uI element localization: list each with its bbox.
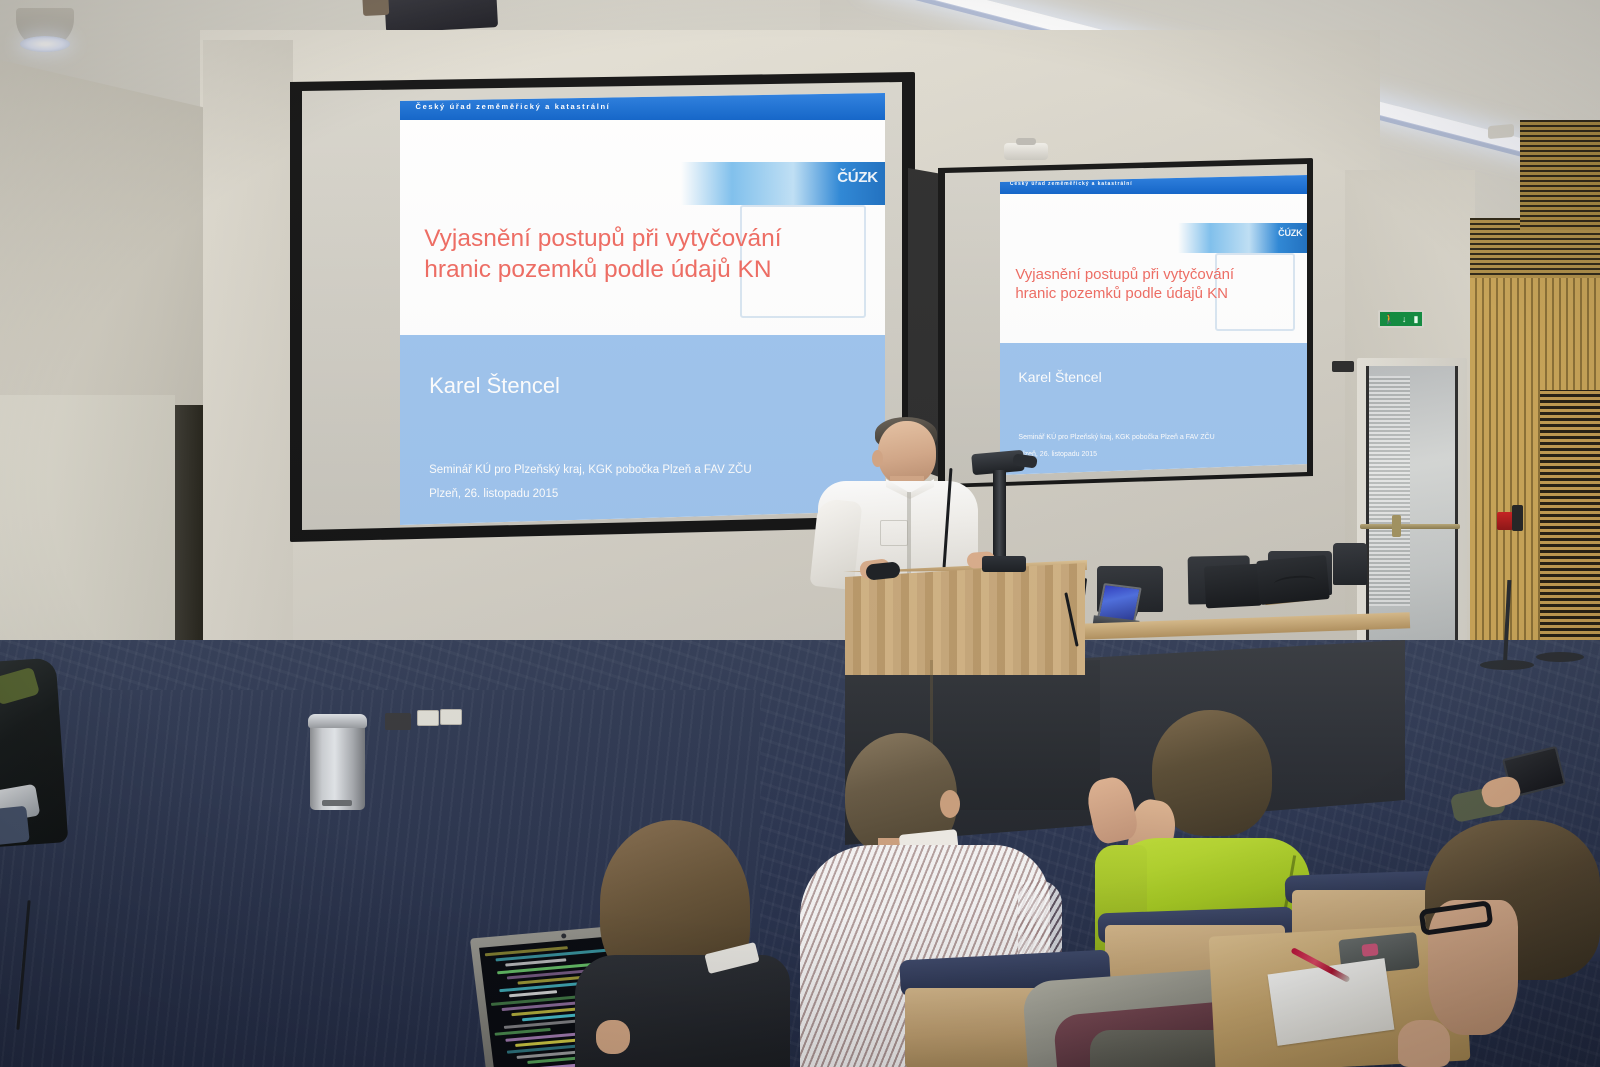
- cuzk-logo-secondary: ČÚZK: [1278, 228, 1302, 238]
- emergency-exit-sign: 🚶 ↓ ▮: [1378, 310, 1424, 328]
- slide-author-name: Karel Štencel: [429, 373, 560, 399]
- wall-outlet-2[interactable]: [440, 709, 462, 725]
- wood-slat-grille: [1540, 390, 1600, 640]
- wall-sensor-icon: [1332, 361, 1354, 372]
- slide-subtitle-line-1: Seminář KÚ pro Plzeňský kraj, KGK pobočk…: [429, 464, 752, 476]
- audience-striped-shirt-ear: [940, 790, 960, 818]
- office-chair-base-2: [1536, 652, 1584, 662]
- slide-header-text-secondary: Český úřad zeměměřický a katastrální: [1000, 181, 1133, 187]
- wall-outlet-1[interactable]: [417, 710, 439, 726]
- control-desk-monitor-1: [1204, 564, 1262, 609]
- slide-title-line-1-secondary: Vyjasnění postupů při vytyčování: [1015, 265, 1291, 284]
- wall-outlet-dark[interactable]: [385, 713, 411, 730]
- slide-canvas: Český úřad zeměměřický a katastrální ČÚZ…: [400, 93, 885, 525]
- slide-author-name-secondary: Karel Štencel: [1018, 369, 1101, 385]
- cuzk-logo: ČÚZK: [837, 169, 877, 186]
- slide-subtitle-line-2: Plzeň, 26. listopadu 2015: [429, 488, 558, 500]
- presenter-shirt-pocket: [880, 520, 908, 546]
- pencil-case-tab: [1361, 943, 1378, 957]
- slide-canvas-secondary: Český úřad zeměměřický a katastrální ČÚZ…: [1000, 175, 1307, 475]
- arrow-down-icon: ↓: [1402, 315, 1407, 324]
- control-desk-chair-4: [1333, 543, 1367, 585]
- stainless-step-bin: [310, 722, 365, 810]
- bin-pedal[interactable]: [322, 800, 352, 806]
- slide-title-line-2-secondary: hranic pozemků podle údajů KN: [1015, 284, 1291, 303]
- fire-alarm-call-point[interactable]: [1497, 512, 1513, 530]
- slide-title-line-1: Vyjasnění postupů při vytyčování: [424, 223, 861, 254]
- slide-lower-panel-secondary: Karel Štencel Seminář KÚ pro Plzeňský kr…: [1000, 343, 1307, 475]
- laptop-webcam-icon: [560, 933, 566, 938]
- office-chair-base: [1480, 660, 1534, 670]
- coat-blue: [0, 806, 30, 847]
- audience-laptop-user-hand: [596, 1020, 630, 1054]
- alarm-control-box: [1512, 505, 1523, 531]
- slide-title-line-2: hranic pozemků podle údajů KN: [424, 254, 861, 285]
- cuzk-logo-text: ČÚZK: [837, 169, 877, 186]
- glass-emergency-door[interactable]: [1366, 366, 1458, 654]
- slide-header-text: Český úřad zeměměřický a katastrální: [400, 102, 610, 111]
- presenter-ear: [872, 450, 883, 467]
- door-icon: ▮: [1413, 315, 1418, 324]
- lecture-hall-scene: 🚶 ↓ ▮ Český úřad zeměměřický a katastrál…: [0, 0, 1600, 1067]
- main-slide: Český úřad zeměměřický a katastrální ČÚZ…: [400, 93, 885, 525]
- audience-glasses-hand: [1398, 1020, 1450, 1067]
- slide-subtitle-line-1-secondary: Seminář KÚ pro Plzeňský kraj, KGK pobočk…: [1018, 434, 1214, 441]
- slide-lower-panel: Karel Štencel Seminář KÚ pro Plzeňský kr…: [400, 335, 885, 525]
- running-person-icon: 🚶: [1384, 315, 1395, 324]
- microphone-base: [982, 556, 1026, 572]
- recessed-downlight-icon: [16, 8, 74, 48]
- bin-lid[interactable]: [308, 714, 367, 728]
- slide-title: Vyjasnění postupů při vytyčování hranic …: [424, 223, 861, 286]
- speaker-podium: [845, 563, 1085, 675]
- microphone-stand: [993, 470, 1006, 565]
- smoke-detector-icon: [1488, 124, 1514, 139]
- secondary-projector-icon: [1004, 143, 1048, 160]
- cuzk-logo-text-secondary: ČÚZK: [1278, 228, 1302, 238]
- slide-title-secondary: Vyjasnění postupů při vytyčování hranic …: [1015, 265, 1291, 303]
- door-handle[interactable]: [1392, 515, 1401, 537]
- window-blind: [1369, 376, 1410, 606]
- presenter-left-arm: [810, 498, 863, 590]
- secondary-slide: Český úřad zeměměřický a katastrální ČÚZ…: [1000, 175, 1307, 475]
- door-push-bar[interactable]: [1360, 524, 1460, 529]
- code-line: [509, 991, 557, 998]
- wood-slat-panel-upper: [1520, 120, 1600, 230]
